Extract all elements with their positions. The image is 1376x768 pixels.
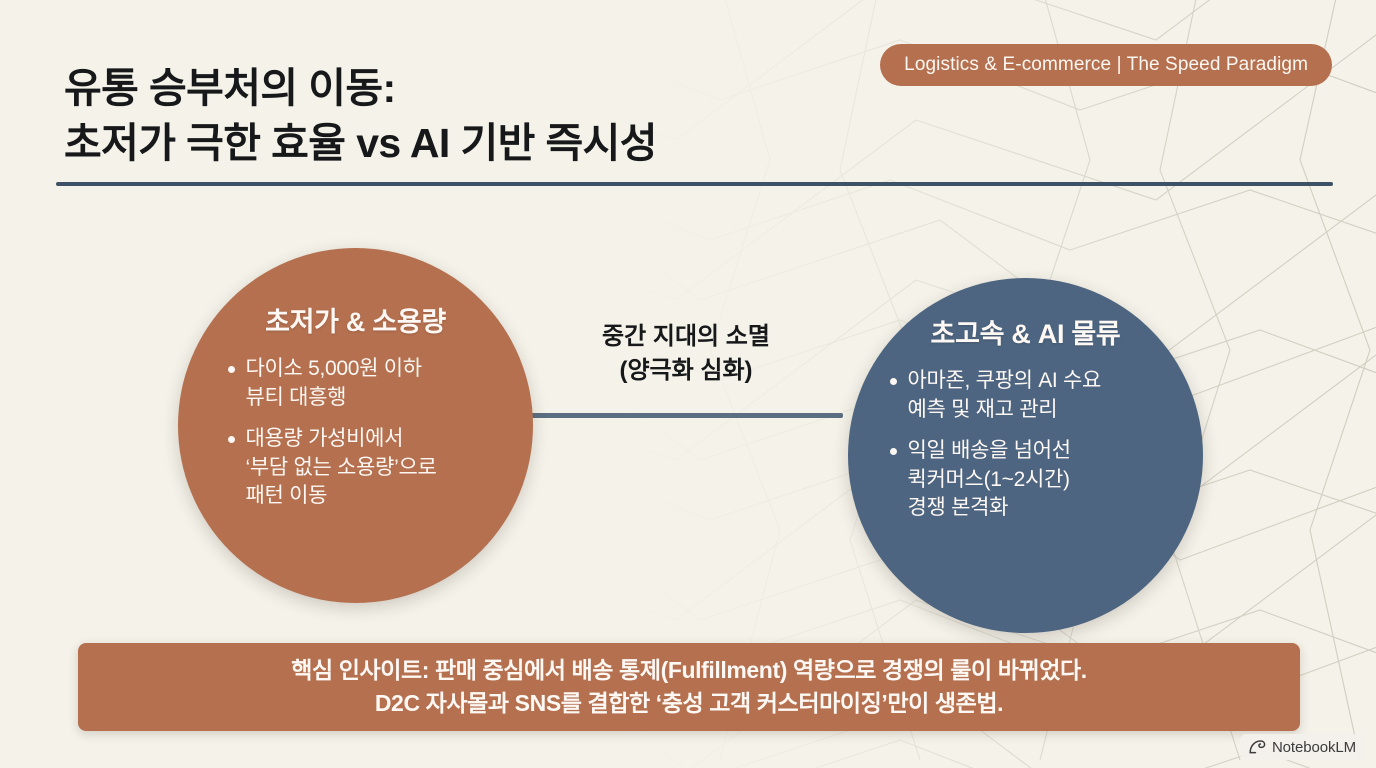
circle-left-bullet-list: 다이소 5,000원 이하 뷰티 대흥행 대용량 가성비에서 ‘부담 없는 소용… xyxy=(225,355,487,511)
key-insight-banner: 핵심 인사이트: 판매 중심에서 배송 통제(Fulfillment) 역량으로… xyxy=(78,643,1300,731)
list-item: 아마존, 쿠팡의 AI 수요 예측 및 재고 관리 xyxy=(887,367,1165,424)
circle-right-title: 초고속 & AI 물류 xyxy=(931,312,1121,351)
key-insight-line-1: 핵심 인사이트: 판매 중심에서 배송 통제(Fulfillment) 역량으로… xyxy=(291,654,1087,687)
circle-left-title: 초저가 & 소용량 xyxy=(265,300,446,339)
page-title: 유통 승부처의 이동: 초저가 극한 효율 vs AI 기반 즉시성 xyxy=(64,61,864,170)
circle-right-bullet-list: 아마존, 쿠팡의 AI 수요 예측 및 재고 관리 익일 배송을 넘어선 퀵커머… xyxy=(887,367,1165,523)
title-divider-rule xyxy=(56,182,1333,186)
list-item: 대용량 가성비에서 ‘부담 없는 소용량’으로 패턴 이동 xyxy=(225,425,487,511)
connector-line xyxy=(528,413,843,418)
circle-low-price-small-volume: 초저가 & 소용량 다이소 5,000원 이하 뷰티 대흥행 대용량 가성비에서… xyxy=(178,248,533,603)
topic-badge: Logistics & E-commerce | The Speed Parad… xyxy=(880,44,1332,86)
slide-canvas: 유통 승부처의 이동: 초저가 극한 효율 vs AI 기반 즉시성 Logis… xyxy=(0,0,1376,768)
circle-ultrafast-ai-logistics: 초고속 & AI 물류 아마존, 쿠팡의 AI 수요 예측 및 재고 관리 익일… xyxy=(848,278,1203,633)
connector-label: 중간 지대의 소멸 (양극화 심화) xyxy=(545,320,827,388)
notebooklm-spiral-icon xyxy=(1248,738,1266,756)
list-item: 다이소 5,000원 이하 뷰티 대흥행 xyxy=(225,355,487,412)
notebooklm-watermark: NotebookLM xyxy=(1240,734,1366,760)
notebooklm-watermark-label: NotebookLM xyxy=(1272,739,1356,756)
list-item: 익일 배송을 넘어선 퀵커머스(1~2시간) 경쟁 본격화 xyxy=(887,437,1165,523)
key-insight-line-2: D2C 자사몰과 SNS를 결합한 ‘충성 고객 커스터마이징’만이 생존법. xyxy=(375,687,1003,720)
